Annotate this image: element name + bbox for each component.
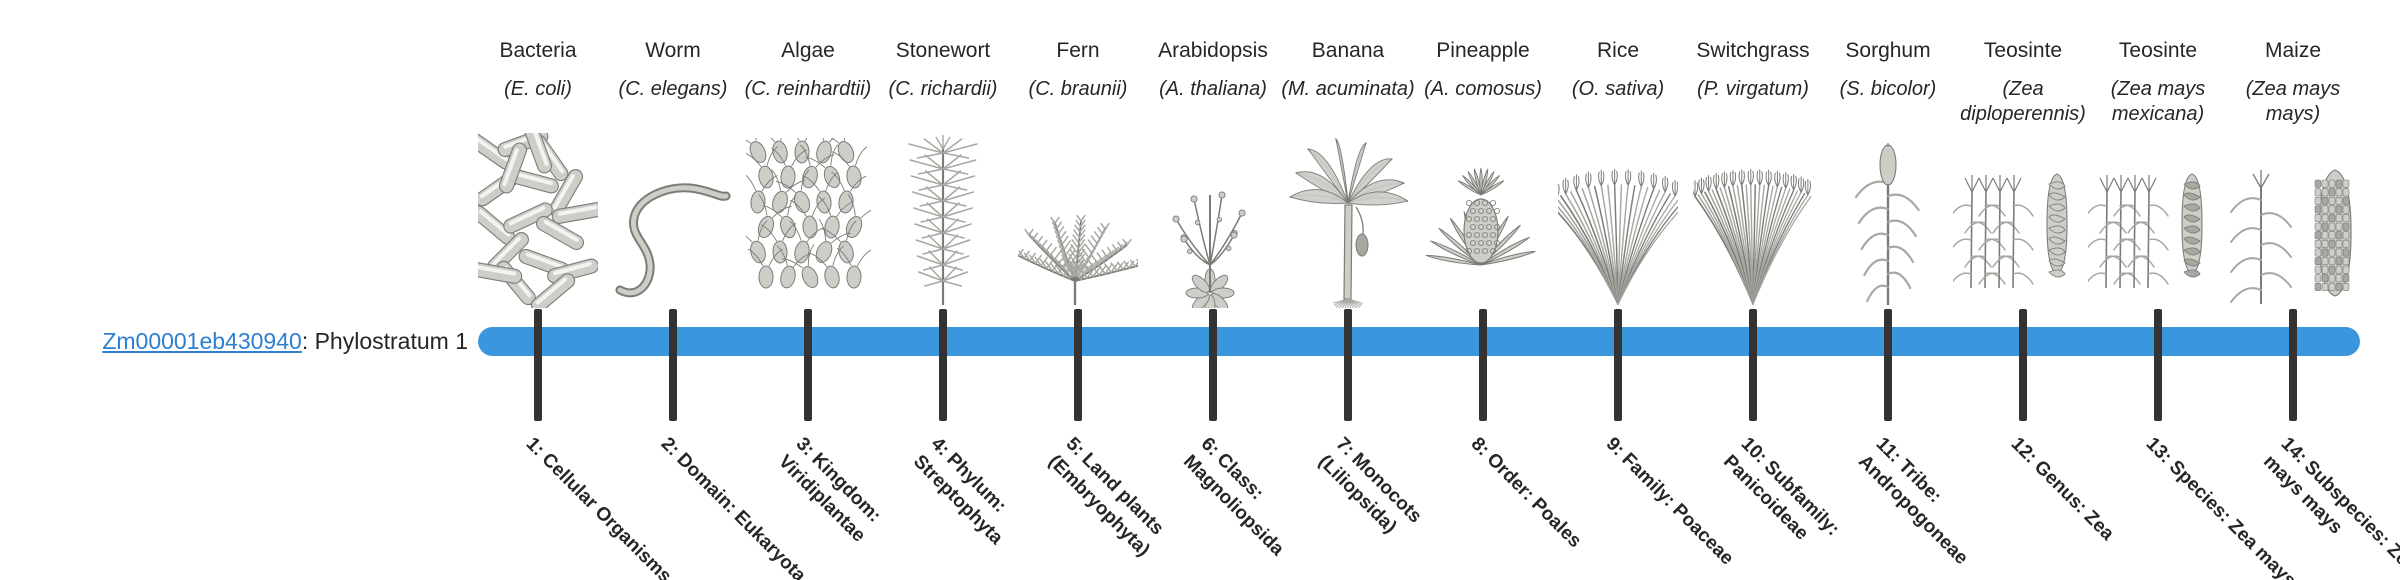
species-latin-name: (Zea diploperennis) xyxy=(1948,77,2098,127)
banana-illustration xyxy=(1273,168,1423,308)
species-column: Teosinte(Zea diploperennis) 12: Genus: Z… xyxy=(1948,0,2098,580)
species-header: Pineapple(A. comosus) xyxy=(1408,38,1558,102)
phylostratum-tick xyxy=(2019,309,2027,421)
gene-phylostratum-label: Zm00001eb430940: Phylostratum 1 xyxy=(0,327,468,355)
species-common-name: Stonewort xyxy=(868,38,1018,64)
maize-illustration xyxy=(2218,168,2368,308)
species-header: Teosinte(Zea diploperennis) xyxy=(1948,38,2098,127)
pineapple-illustration xyxy=(1408,168,1558,308)
switchgrass-illustration xyxy=(1678,168,1828,308)
species-header: Sorghum(S. bicolor) xyxy=(1813,38,1963,102)
species-latin-name: (A. comosus) xyxy=(1408,77,1558,102)
algae-illustration xyxy=(733,168,883,308)
species-column: Fern(C. braunii) 5: Land plants (Embryop… xyxy=(1003,0,1153,580)
species-header: Algae(C. reinhardtii) xyxy=(733,38,883,102)
species-common-name: Algae xyxy=(733,38,883,64)
species-header: Arabidopsis(A. thaliana) xyxy=(1138,38,1288,102)
species-common-name: Teosinte xyxy=(2083,38,2233,64)
gene-id-link[interactable]: Zm00001eb430940 xyxy=(102,328,302,354)
species-header: Switchgrass(P. virgatum) xyxy=(1678,38,1828,102)
species-latin-name: (Zea mays mays) xyxy=(2218,77,2368,127)
bacteria-illustration xyxy=(463,168,613,308)
phylostratum-tick xyxy=(669,309,677,421)
species-column: Switchgrass(P. virgatum) 10: Subfamily: … xyxy=(1678,0,1828,580)
phylostratum-tick xyxy=(2289,309,2297,421)
fern-illustration xyxy=(1003,168,1153,308)
teosinte-mexicana-illustration xyxy=(2083,168,2233,308)
species-latin-name: (Zea mays mexicana) xyxy=(2083,77,2233,127)
phylostratum-tick xyxy=(1749,309,1757,421)
species-column: Algae(C. reinhardtii) xyxy=(733,0,883,580)
rice-illustration xyxy=(1543,168,1693,308)
stonewort-illustration xyxy=(868,168,1018,308)
species-common-name: Maize xyxy=(2218,38,2368,64)
species-header: Fern(C. braunii) xyxy=(1003,38,1153,102)
phylostratum-tick xyxy=(1884,309,1892,421)
taxonomic-rank-label: 14: Subspecies: Zea mays mays xyxy=(2258,432,2400,580)
species-latin-name: (P. virgatum) xyxy=(1678,77,1828,102)
species-column: Arabidopsis(A. thaliana) xyxy=(1138,0,1288,580)
species-latin-name: (S. bicolor) xyxy=(1813,77,1963,102)
species-latin-name: (M. acuminata) xyxy=(1273,77,1423,102)
phylostratum-tick xyxy=(804,309,812,421)
phylostratum-timeline: Zm00001eb430940: Phylostratum 1 Bacteria… xyxy=(0,0,2400,580)
species-header: Teosinte(Zea mays mexicana) xyxy=(2083,38,2233,127)
species-common-name: Worm xyxy=(598,38,748,64)
species-common-name: Teosinte xyxy=(1948,38,2098,64)
phylostratum-tick xyxy=(939,309,947,421)
worm-illustration xyxy=(598,168,748,308)
phylostratum-tick xyxy=(1209,309,1217,421)
species-common-name: Switchgrass xyxy=(1678,38,1828,64)
species-header: Stonewort(C. richardii) xyxy=(868,38,1018,102)
species-column: Teosinte(Zea mays mexicana) 13: Species:… xyxy=(2083,0,2233,580)
species-header: Bacteria(E. coli) xyxy=(463,38,613,102)
species-latin-name: (E. coli) xyxy=(463,77,613,102)
species-column: Banana(M. acuminata) xyxy=(1273,0,1423,580)
species-column: Maize(Zea mays mays) 14: Subspecies: Zea… xyxy=(2218,0,2368,580)
phylostratum-tick xyxy=(1344,309,1352,421)
species-common-name: Fern xyxy=(1003,38,1153,64)
species-common-name: Banana xyxy=(1273,38,1423,64)
teosinte-diploperennis-illustration xyxy=(1948,168,2098,308)
species-latin-name: (C. reinhardtii) xyxy=(733,77,883,102)
species-header: Worm(C. elegans) xyxy=(598,38,748,102)
phylostratum-value: Phylostratum 1 xyxy=(315,328,468,354)
species-header: Rice(O. sativa) xyxy=(1543,38,1693,102)
species-common-name: Arabidopsis xyxy=(1138,38,1288,64)
species-header: Banana(M. acuminata) xyxy=(1273,38,1423,102)
species-common-name: Pineapple xyxy=(1408,38,1558,64)
gene-label-separator: : xyxy=(302,328,315,354)
species-column: Sorghum(S. bicolor) 11: Tribe: Andropogo… xyxy=(1813,0,1963,580)
species-column: Stonewort(C. richardii) 4: Phylum: Strep… xyxy=(868,0,1018,580)
phylostratum-tick xyxy=(1074,309,1082,421)
phylostratum-tick xyxy=(534,309,542,421)
species-latin-name: (C. richardii) xyxy=(868,77,1018,102)
species-latin-name: (C. elegans) xyxy=(598,77,748,102)
species-common-name: Sorghum xyxy=(1813,38,1963,64)
species-latin-name: (O. sativa) xyxy=(1543,77,1693,102)
species-column: Rice(O. sativa) 9: Family: Poaceae xyxy=(1543,0,1693,580)
species-column: Bacteria(E. coli) xyxy=(463,0,613,580)
arabidopsis-illustration xyxy=(1138,168,1288,308)
species-column: Pineapple(A. comosus) 8: Order: Poales xyxy=(1408,0,1558,580)
species-latin-name: (C. braunii) xyxy=(1003,77,1153,102)
species-column: Worm(C. elegans) 2: Domain: Eukaryota xyxy=(598,0,748,580)
species-common-name: Rice xyxy=(1543,38,1693,64)
species-header: Maize(Zea mays mays) xyxy=(2218,38,2368,127)
species-common-name: Bacteria xyxy=(463,38,613,64)
sorghum-illustration xyxy=(1813,168,1963,308)
species-latin-name: (A. thaliana) xyxy=(1138,77,1288,102)
phylostratum-tick xyxy=(1614,309,1622,421)
phylostratum-tick xyxy=(2154,309,2162,421)
phylostratum-tick xyxy=(1479,309,1487,421)
